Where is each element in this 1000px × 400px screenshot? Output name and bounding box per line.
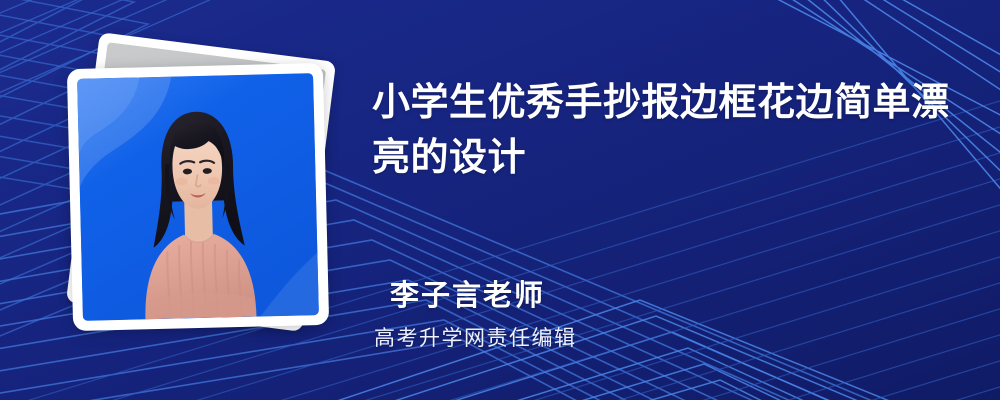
portrait-photo: [77, 73, 319, 321]
author-role: 高考升学网责任编辑: [374, 322, 577, 352]
promo-banner: 小学生优秀手抄报边框花边简单漂亮的设计 李子言老师 高考升学网责任编辑: [0, 0, 1000, 400]
author-name: 李子言老师: [390, 272, 545, 314]
portrait-card: [67, 63, 329, 331]
page-title: 小学生优秀手抄报边框花边简单漂亮的设计: [372, 76, 952, 186]
article-text-block: 小学生优秀手抄报边框花边简单漂亮的设计 李子言老师 高考升学网责任编辑: [372, 0, 972, 400]
portrait-photo-icon: [77, 73, 319, 321]
portrait-card-stack: [46, 40, 366, 360]
